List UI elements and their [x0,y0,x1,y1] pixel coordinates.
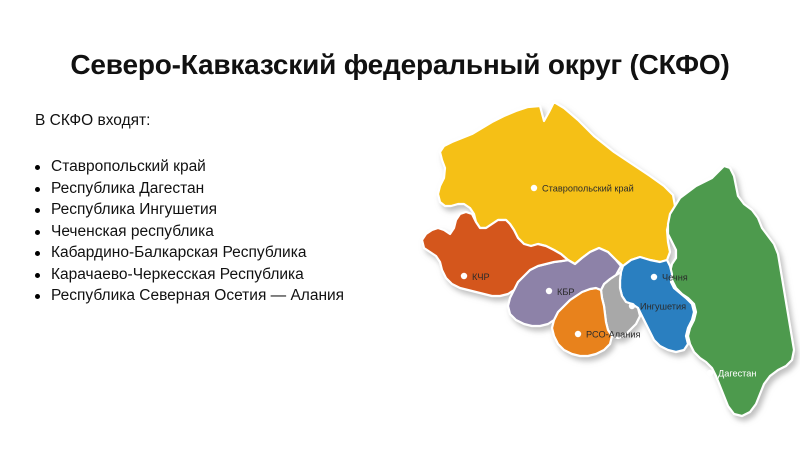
map-figure: Ставропольский край КЧР КБР РСО-Алания И [418,94,800,439]
list-item: Республика Северная Осетия — Алания [33,285,413,307]
list-item: Чеченская республика [33,221,413,243]
label-dot-icon [531,185,537,191]
intro-panel: В СКФО входят: Ставропольский край Респу… [33,112,413,307]
label-dot-icon [546,288,552,294]
list-item-label: Кабардино-Балкарская Республика [51,244,306,261]
bullet-dot-icon [35,187,40,192]
list-item: Ставропольский край [33,156,413,178]
label-dot-icon [461,273,467,279]
list-item-label: Республика Ингушетия [51,201,217,218]
list-item: Республика Дагестан [33,178,413,200]
map-label-ingushetia-text: Ингушетия [640,302,686,312]
map-label-kbr-text: КБР [557,287,575,297]
list-item-label: Чеченская республика [51,223,214,240]
intro-heading: В СКФО входят: [35,112,413,130]
bullet-dot-icon [35,230,40,235]
list-item-label: Ставропольский край [51,158,206,175]
page-title: Северо-Кавказский федеральный округ (СКФ… [0,49,800,81]
bullet-dot-icon [35,208,40,213]
list-item: Республика Ингушетия [33,199,413,221]
label-dot-icon [575,331,581,337]
map-label-dagestan-text: Дагестан [718,369,756,379]
map-label-stavropol: Ставропольский край [531,184,634,194]
bullet-dot-icon [35,251,40,256]
list-item: Карачаево-Черкесская Республика [33,264,413,286]
label-dot-icon [651,274,657,280]
bullet-dot-icon [35,294,40,299]
region-dagestan[interactable] [668,166,794,416]
map-label-rso-alania-text: РСО-Алания [586,330,640,340]
map-label-chechnya-text: Чечня [662,273,688,283]
map-label-stavropol-text: Ставропольский край [542,184,634,194]
slide-canvas: Северо-Кавказский федеральный округ (СКФ… [0,0,800,450]
list-item-label: Республика Дагестан [51,180,204,197]
region-list: Ставропольский край Республика Дагестан … [33,156,413,307]
list-item-label: Республика Северная Осетия — Алания [51,287,344,304]
list-item-label: Карачаево-Черкесская Республика [51,266,304,283]
list-item: Кабардино-Балкарская Республика [33,242,413,264]
north-caucasus-map: Ставропольский край КЧР КБР РСО-Алания И [418,94,800,439]
bullet-dot-icon [35,165,40,170]
label-dot-icon [629,303,635,309]
bullet-dot-icon [35,273,40,278]
label-dot-icon [707,370,713,376]
map-label-kchr-text: КЧР [472,272,490,282]
